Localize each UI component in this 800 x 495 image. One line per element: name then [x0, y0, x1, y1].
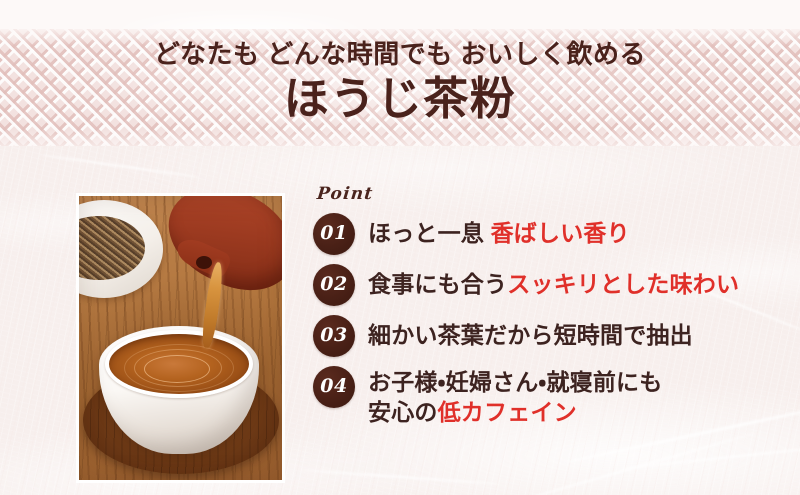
point-text-line-1: お子様・妊婦さん・就寝前にも — [368, 367, 662, 397]
product-photo-image — [79, 196, 282, 480]
poster-root: どなたも どんな時間でも おいしく飲める ほうじ茶粉 — [0, 0, 800, 495]
point-text-plain: 細かい茶葉だから短時間で抽出 — [368, 322, 693, 348]
point-text-03: 細かい茶葉だから短時間で抽出 — [368, 315, 693, 350]
point-number-01: 01 — [320, 222, 347, 244]
point-item-02: 02 食事にも合うスッキリとした味わい — [313, 264, 783, 306]
headline-block: どなたも どんな時間でも おいしく飲める ほうじ茶粉 — [0, 41, 800, 121]
point-item-01: 01 ほっと一息 香ばしい香り — [313, 213, 783, 255]
point-number-04: 04 — [320, 375, 347, 397]
points-list: Point 01 ほっと一息 香ばしい香り 02 食事にも合うスッキリとした味わ… — [313, 186, 783, 428]
teapot-spout-tip — [196, 256, 212, 269]
headline-subtitle: どなたも どんな時間でも おいしく飲める — [0, 41, 800, 67]
page-title: ほうじ茶粉 — [0, 76, 800, 121]
point-text-plain: 安心の — [368, 399, 438, 425]
point-text-accent: 香ばしい香り — [491, 220, 630, 246]
point-badge-02: 02 — [313, 264, 355, 306]
point-badge-03: 03 — [313, 315, 355, 357]
point-item-03: 03 細かい茶葉だから短時間で抽出 — [313, 315, 783, 357]
point-number-02: 02 — [320, 273, 347, 295]
point-text-accent: 低カフェイン — [438, 399, 577, 425]
points-label: Point — [316, 186, 374, 203]
top-margin-strip — [0, 0, 800, 29]
point-text-plain: ほっと一息 — [368, 220, 491, 246]
point-text-line-2: 安心の低カフェイン — [368, 397, 662, 427]
point-item-04: 04 お子様・妊婦さん・就寝前にも 安心の低カフェイン — [313, 366, 783, 428]
point-text-04: お子様・妊婦さん・就寝前にも 安心の低カフェイン — [368, 366, 662, 428]
point-text-plain: 食事にも合う — [368, 271, 507, 297]
point-badge-01: 01 — [313, 213, 355, 255]
point-number-03: 03 — [320, 324, 347, 346]
teacup-rim — [105, 330, 253, 398]
point-text-02: 食事にも合うスッキリとした味わい — [368, 264, 739, 299]
point-badge-04: 04 — [313, 366, 355, 408]
point-text-plain: お子様・妊婦さん・就寝前にも — [368, 369, 662, 395]
point-text-accent: スッキリとした味わい — [507, 271, 739, 297]
point-text-01: ほっと一息 香ばしい香り — [368, 213, 630, 248]
product-photo — [76, 193, 285, 483]
